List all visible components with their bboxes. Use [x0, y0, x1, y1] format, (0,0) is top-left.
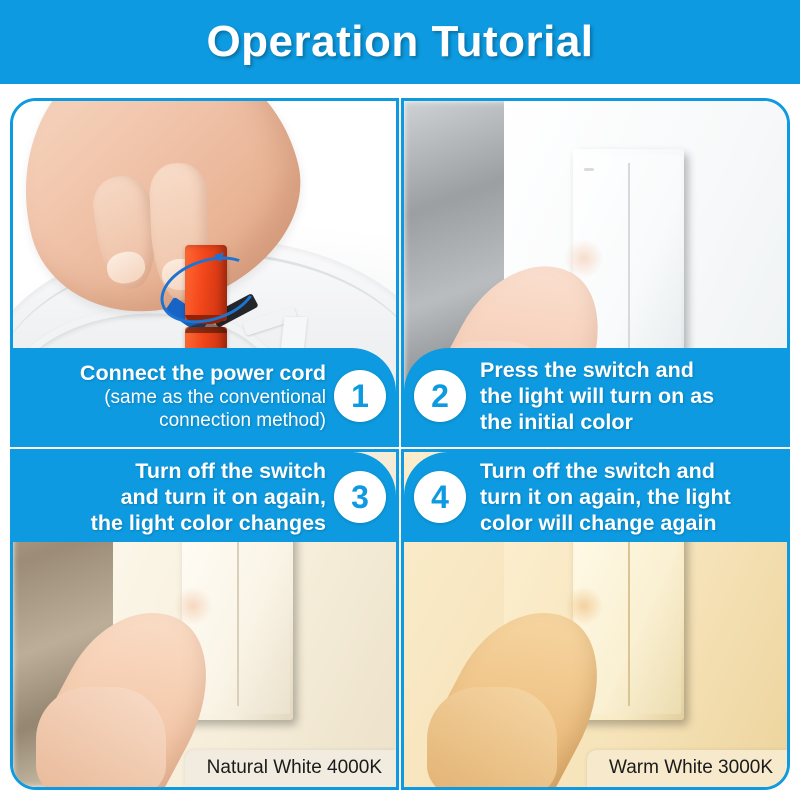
step-2-title-line3: the initial color	[480, 410, 633, 434]
tutorial-step-card-2[interactable]: Cold White 6500K 2 Press the switch and …	[401, 98, 790, 447]
step-1-subtitle-line2: connection method)	[23, 409, 326, 432]
switch-indicator-led	[584, 168, 595, 171]
step-2-caption-bar: 2 Press the switch and the light will tu…	[404, 348, 787, 444]
tutorial-step-card-1[interactable]: Connect the power cord (same as the conv…	[10, 98, 399, 447]
step-1-title: Connect the power cord	[80, 361, 326, 385]
step-3-title-line3: the light color changes	[91, 511, 326, 535]
step-1-caption-bar: Connect the power cord (same as the conv…	[13, 348, 396, 444]
step-4-caption-bar: 4 Turn off the switch and turn it on aga…	[404, 452, 787, 542]
step-3-title-line2: and turn it on again,	[121, 485, 326, 509]
fingertip-contact-point	[174, 586, 212, 626]
switch-divider	[628, 163, 630, 361]
step-4-title-line1: Turn off the switch and	[480, 459, 715, 483]
step-2-title-line1: Press the switch and	[480, 358, 694, 382]
tutorial-step-card-4[interactable]: Warm White 3000K 4 Turn off the switch a…	[401, 449, 790, 790]
step-4-caption-text: Turn off the switch and turn it on again…	[466, 458, 777, 537]
step-3-title-line1: Turn off the switch	[135, 459, 326, 483]
page-title: Operation Tutorial	[206, 17, 593, 67]
hand-knuckles	[36, 687, 166, 788]
tutorial-steps-grid: Connect the power cord (same as the conv…	[10, 98, 790, 790]
step-2-number-badge: 2	[414, 370, 466, 422]
step-3-color-temperature-label: Natural White 4000K	[185, 750, 396, 787]
step-2-title-line2: the light will turn on as	[480, 384, 714, 408]
step-1-number-badge: 1	[334, 370, 386, 422]
step-1-subtitle-line1: (same as the conventional	[23, 386, 326, 409]
step-4-color-temperature-label: Warm White 3000K	[587, 750, 787, 787]
step-4-number-badge: 4	[414, 471, 466, 523]
step-3-number-badge: 3	[334, 471, 386, 523]
step-3-caption-bar: Turn off the switch and turn it on again…	[13, 452, 396, 542]
page-header: Operation Tutorial	[0, 0, 800, 84]
tutorial-step-card-3[interactable]: Natural White 4000K Turn off the switch …	[10, 449, 399, 790]
hand-knuckles	[427, 687, 557, 788]
step-2-caption-text: Press the switch and the light will turn…	[466, 357, 777, 436]
step-4-title-line2: turn it on again, the light	[480, 485, 731, 509]
fingertip-contact-point	[565, 586, 603, 626]
step-3-caption-text: Turn off the switch and turn it on again…	[23, 458, 334, 537]
step-1-caption-text: Connect the power cord (same as the conv…	[23, 360, 334, 433]
step-4-title-line3: color will change again	[480, 511, 717, 535]
